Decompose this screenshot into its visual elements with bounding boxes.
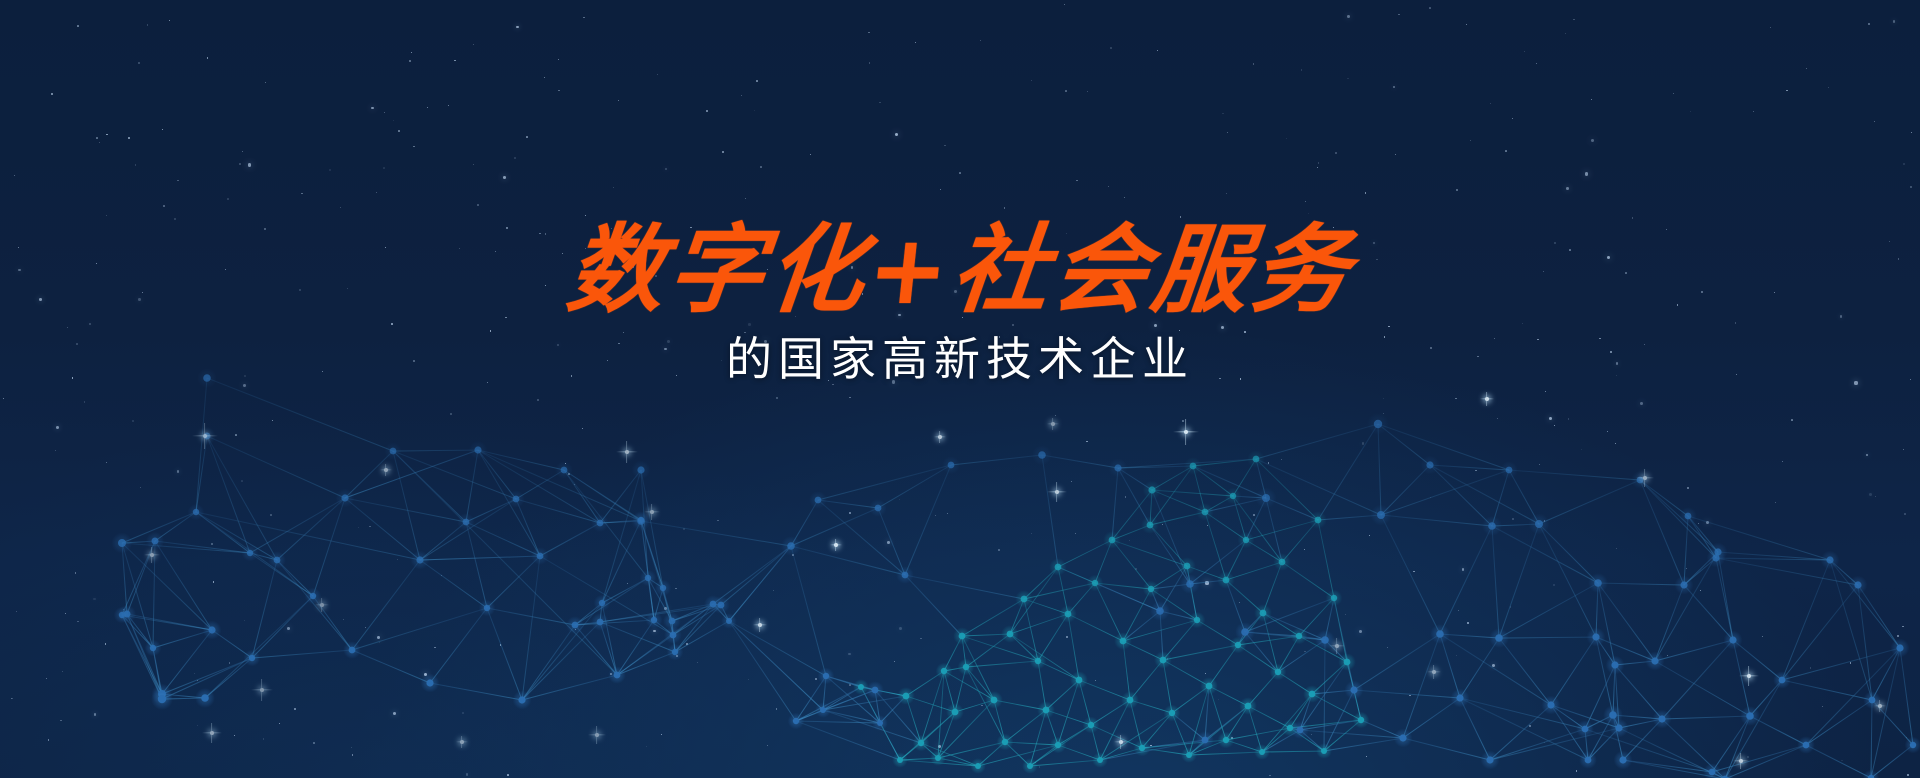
network-node <box>1535 520 1543 528</box>
network-node <box>1035 658 1041 664</box>
network-edge <box>313 596 352 650</box>
network-edge <box>905 465 951 575</box>
network-node <box>637 517 645 525</box>
network-edge <box>575 625 617 675</box>
network-node <box>201 694 209 702</box>
network-edge <box>252 560 277 658</box>
network-node <box>952 709 959 716</box>
network-edge <box>1440 526 1492 634</box>
network-node <box>1651 657 1658 664</box>
network-node <box>1399 734 1406 741</box>
network-edge <box>487 556 540 608</box>
network-edge <box>352 608 487 650</box>
network-node <box>1712 554 1719 561</box>
network-edge <box>1189 752 1262 755</box>
network-edge <box>1640 480 1684 585</box>
network-node <box>877 720 883 726</box>
network-edge <box>393 450 478 451</box>
network-node <box>1350 686 1357 693</box>
network-edge <box>487 608 575 625</box>
network-edge <box>1551 637 1596 705</box>
network-node <box>1120 638 1127 645</box>
network-edge <box>1806 700 1872 745</box>
network-edge <box>1095 583 1123 641</box>
network-edge <box>1354 634 1440 690</box>
network-edge <box>196 512 277 560</box>
network-node <box>193 509 199 515</box>
network-node <box>1609 711 1617 719</box>
network-node <box>1169 710 1175 716</box>
network-edge <box>522 622 600 700</box>
network-edge <box>516 499 540 556</box>
network-node <box>1230 493 1236 499</box>
network-edge <box>1539 524 1596 637</box>
network-node <box>484 605 490 611</box>
network-edge <box>1585 729 1712 772</box>
network-edge <box>878 465 951 508</box>
network-edge <box>1782 648 1900 680</box>
network-node <box>1156 607 1164 615</box>
network-edge <box>1662 640 1733 719</box>
network-edge <box>207 378 393 451</box>
network-edge <box>1492 526 1598 583</box>
network-edge <box>1068 614 1079 680</box>
network-edge <box>430 683 522 700</box>
network-edge <box>878 508 905 575</box>
network-edge <box>796 721 880 723</box>
network-node <box>597 619 604 626</box>
network-edge <box>966 661 1038 667</box>
network-node <box>1127 697 1134 704</box>
network-node <box>1869 697 1876 704</box>
network-node <box>1297 727 1304 734</box>
network-edge <box>1806 648 1900 745</box>
network-node <box>597 520 604 527</box>
network-edge <box>1042 455 1118 468</box>
network-node <box>1253 456 1260 463</box>
network-node <box>948 462 955 469</box>
network-edge <box>1539 524 1598 583</box>
network-edge <box>1300 720 1361 730</box>
network-node <box>518 696 525 703</box>
network-node <box>416 556 423 563</box>
network-node <box>1259 749 1265 755</box>
network-edge <box>564 470 641 521</box>
network-edge <box>1381 470 1509 515</box>
network-node <box>1260 610 1267 617</box>
network-edge <box>1381 515 1440 634</box>
network-node <box>1358 717 1364 723</box>
network-node <box>672 649 678 655</box>
network-node <box>249 655 255 661</box>
network-node <box>1245 703 1252 710</box>
network-edge <box>466 450 478 522</box>
network-node <box>474 446 481 453</box>
network-edge <box>1440 634 1460 698</box>
network-node <box>158 695 166 703</box>
network-node <box>991 697 998 704</box>
network-edge <box>252 650 352 658</box>
network-node <box>669 618 676 625</box>
network-edge <box>430 608 487 683</box>
network-node <box>1148 486 1155 493</box>
network-edge <box>1655 661 1750 716</box>
network-node <box>152 538 159 545</box>
network-edge <box>791 546 826 676</box>
network-node <box>1160 657 1167 664</box>
network-node <box>204 433 211 440</box>
network-edge <box>1324 738 1403 751</box>
network-edge <box>155 541 212 630</box>
network-edge <box>951 455 1042 465</box>
network-node <box>1486 756 1493 763</box>
network-node <box>1592 633 1599 640</box>
network-node <box>1202 737 1209 744</box>
network-edge <box>796 687 861 721</box>
network-edge <box>564 470 600 523</box>
network-edge <box>277 560 352 650</box>
network-node <box>975 763 981 769</box>
network-edge <box>1058 540 1112 567</box>
network-edge <box>540 523 600 556</box>
network-node <box>1709 769 1716 776</box>
network-edge <box>207 436 277 560</box>
network-edge <box>617 620 654 675</box>
network-node <box>1279 559 1286 566</box>
network-node <box>1746 712 1754 720</box>
network-edge <box>1381 465 1430 515</box>
network-node <box>1658 715 1665 722</box>
network-edge <box>1403 738 1490 760</box>
network-node <box>1680 581 1687 588</box>
network-edge <box>1725 680 1782 778</box>
network-node <box>787 542 795 550</box>
network-node <box>247 550 253 556</box>
network-node <box>1148 586 1154 592</box>
network-edge <box>478 450 641 521</box>
network-edge <box>1123 641 1130 700</box>
network-node <box>1021 596 1028 603</box>
network-edge <box>1189 706 1248 755</box>
network-edge <box>1100 700 1130 760</box>
network-node <box>1309 691 1316 698</box>
network-node <box>1190 463 1197 470</box>
network-node <box>1184 563 1191 570</box>
network-node <box>1206 683 1213 690</box>
network-edge <box>900 712 955 760</box>
network-node <box>1002 739 1008 745</box>
network-edge <box>602 603 617 675</box>
network-edge <box>602 470 641 603</box>
network-edge <box>1460 698 1490 760</box>
network-node <box>1088 722 1094 728</box>
network-node <box>1321 636 1329 644</box>
network-node <box>1547 701 1554 708</box>
network-edge <box>1403 698 1460 738</box>
network-node <box>1186 752 1192 758</box>
network-node <box>1779 677 1786 684</box>
network-edge <box>818 500 878 508</box>
network-edge <box>1782 585 1858 680</box>
network-node <box>1585 757 1592 764</box>
network-edge <box>905 575 1024 599</box>
network-node <box>1038 451 1046 459</box>
network-edge <box>1068 614 1123 641</box>
network-node <box>1488 522 1496 530</box>
network-edge <box>1324 690 1354 751</box>
network-node <box>1235 642 1241 648</box>
network-node <box>902 572 909 579</box>
network-edge <box>250 498 345 553</box>
network-node <box>1615 724 1622 731</box>
hero-banner: 数字化+社会服务 的国家高新技术企业 <box>0 0 1920 778</box>
network-node <box>935 755 941 761</box>
network-node <box>1315 517 1322 524</box>
network-edge <box>1282 562 1334 598</box>
network-node <box>208 626 215 633</box>
network-node <box>537 553 544 560</box>
network-edge <box>1598 583 1684 585</box>
network-node <box>820 707 826 713</box>
network-node <box>1243 537 1249 543</box>
network-edge <box>1725 745 1806 778</box>
network-node <box>1076 677 1083 684</box>
network-edge <box>1042 455 1058 567</box>
network-node <box>1685 513 1692 520</box>
network-node <box>150 645 156 651</box>
network-node <box>599 600 605 606</box>
network-node <box>118 539 126 547</box>
network-edge <box>487 608 522 700</box>
network-node <box>119 612 125 618</box>
network-node <box>1139 745 1145 751</box>
network-edge <box>823 710 880 723</box>
network-node <box>1043 707 1050 714</box>
network-edge <box>393 451 420 560</box>
network-edge <box>1403 634 1440 738</box>
network-node <box>561 467 568 474</box>
network-edge <box>1091 725 1142 748</box>
network-edge <box>122 543 127 614</box>
network-edge <box>729 621 826 676</box>
network-edge <box>1712 745 1806 772</box>
network-node <box>1097 757 1103 763</box>
network-edge <box>617 652 675 675</box>
network-edge <box>1460 698 1585 729</box>
network-node <box>1826 556 1833 563</box>
network-edge <box>1112 540 1151 589</box>
network-node <box>1194 617 1200 623</box>
network-node <box>1241 628 1249 636</box>
network-node <box>1344 659 1351 666</box>
network-edge <box>1095 583 1151 589</box>
network-node <box>903 693 910 700</box>
network-node <box>660 585 666 591</box>
network-edge <box>729 546 791 621</box>
network-edge <box>1499 524 1539 638</box>
network-edge <box>1492 526 1499 638</box>
network-node <box>872 687 879 694</box>
network-edge <box>713 546 791 604</box>
network-edge <box>1640 480 1716 558</box>
network-node <box>1896 644 1903 651</box>
network-node <box>1109 537 1116 544</box>
network-edge <box>1640 480 1718 552</box>
network-node <box>1186 580 1194 588</box>
network-node <box>463 519 470 526</box>
network-edge <box>420 556 540 560</box>
network-edge <box>1499 637 1596 638</box>
network-edge <box>1112 468 1118 540</box>
network-node <box>1275 669 1281 675</box>
network-node <box>274 557 281 564</box>
network-edge <box>1378 424 1509 470</box>
network-edge <box>345 450 478 498</box>
network-node <box>1582 726 1589 733</box>
network-edge <box>205 596 313 698</box>
network-edge <box>1499 638 1551 705</box>
network-node <box>1377 511 1385 519</box>
network-node <box>614 672 621 679</box>
network-edge <box>522 675 617 700</box>
network-node <box>1202 509 1209 516</box>
network-edge <box>1490 729 1585 760</box>
network-edge <box>1655 585 1684 661</box>
network-edge <box>153 541 155 648</box>
network-node <box>513 496 520 503</box>
network-node <box>1506 467 1513 474</box>
network-edge <box>352 560 420 650</box>
network-node <box>637 466 644 473</box>
network-node <box>1910 742 1916 748</box>
network-edge <box>1226 562 1282 580</box>
network-edge <box>345 498 420 560</box>
network-edge <box>729 621 796 721</box>
network-node <box>1055 564 1062 571</box>
network-node <box>572 622 579 629</box>
network-edge <box>1381 515 1492 526</box>
network-node <box>1055 742 1061 748</box>
network-node <box>959 633 966 640</box>
network-edge <box>1334 598 1347 662</box>
network-edge <box>1118 468 1150 525</box>
network-node <box>823 673 829 679</box>
network-edge <box>1354 690 1460 698</box>
network-node <box>670 632 677 639</box>
network-edge <box>575 578 648 625</box>
network-node <box>793 718 799 724</box>
network-node <box>1007 631 1014 638</box>
network-edge <box>1246 520 1318 540</box>
network-node <box>726 618 732 624</box>
network-node <box>1114 464 1121 471</box>
network-node <box>349 647 356 654</box>
network-edge <box>1430 465 1492 526</box>
network-edge <box>1782 680 1872 700</box>
network-node <box>1321 748 1327 754</box>
network-edge <box>207 436 345 498</box>
network-edge <box>617 604 713 675</box>
network-edge <box>1655 552 1718 661</box>
network-node <box>1436 630 1444 638</box>
network-edge <box>1662 716 1750 719</box>
network-node <box>918 740 924 746</box>
network-edge <box>721 546 791 605</box>
network-node <box>858 684 864 690</box>
network-edge <box>962 636 1038 661</box>
network-node <box>1262 494 1270 502</box>
network-edge <box>1030 760 1100 766</box>
network-edge <box>1490 728 1619 760</box>
network-node <box>1374 420 1382 428</box>
network-edge <box>905 575 962 636</box>
network-node <box>1637 477 1644 484</box>
network-edge <box>729 621 823 710</box>
network-edge <box>1900 648 1913 745</box>
network-edge <box>1245 632 1325 640</box>
network-edge <box>938 742 1005 758</box>
network-node <box>1456 694 1463 701</box>
network-edge <box>1509 470 1640 480</box>
network-node <box>1296 633 1302 639</box>
network-edge <box>466 522 540 556</box>
network-node <box>426 679 433 686</box>
network-node <box>1495 634 1503 642</box>
network-node <box>1092 580 1098 586</box>
network-node <box>1426 461 1433 468</box>
network-node <box>1803 742 1810 749</box>
network-node <box>815 497 822 504</box>
network-node <box>897 757 903 763</box>
network-node <box>1027 763 1033 769</box>
network-node <box>718 602 725 609</box>
network-node <box>310 593 316 599</box>
network-edge <box>1460 698 1588 760</box>
network-node <box>1611 661 1618 668</box>
network-node <box>341 494 348 501</box>
network-node <box>875 505 882 512</box>
network-edge <box>641 521 791 546</box>
network-edge <box>1010 614 1068 634</box>
network-node <box>963 664 969 670</box>
network-node <box>1065 611 1072 618</box>
network-edge <box>1684 585 1733 640</box>
network-node <box>645 575 651 581</box>
network-node <box>651 617 657 623</box>
network-edge <box>1615 665 1662 719</box>
network-node <box>1854 581 1861 588</box>
network-node <box>1729 636 1736 643</box>
network-edge <box>1872 700 1913 745</box>
network-edge <box>1806 745 1871 778</box>
network-node <box>1223 577 1230 584</box>
network-edge <box>345 451 393 498</box>
network-edge <box>352 650 430 683</box>
network-node <box>1147 522 1154 529</box>
network-edge <box>1024 583 1095 599</box>
network-node <box>1594 579 1602 587</box>
network-edge <box>1830 560 1900 648</box>
network-edge <box>1378 424 1381 515</box>
network-node <box>203 374 211 382</box>
network-node <box>1619 756 1626 763</box>
network-edge <box>1123 620 1197 641</box>
network-edge <box>1262 751 1324 752</box>
network-edge <box>1655 640 1733 661</box>
network-edge <box>1318 520 1334 598</box>
network-edge <box>516 499 600 523</box>
network-edge <box>1539 480 1640 524</box>
